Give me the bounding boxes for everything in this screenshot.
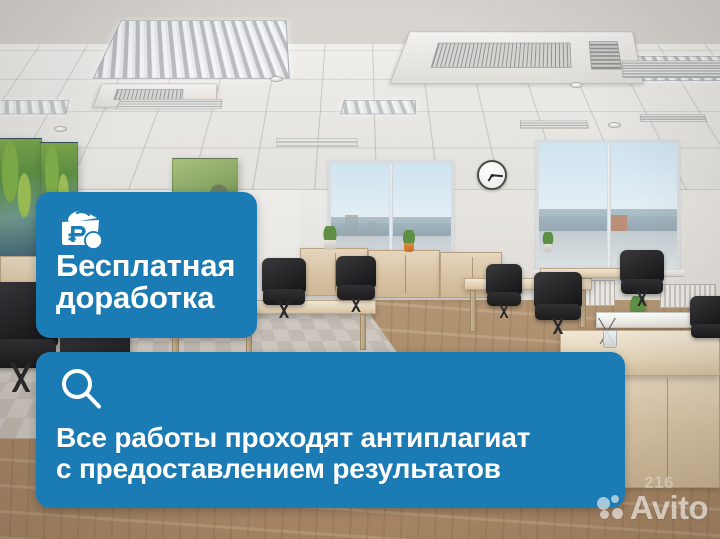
chair-back xyxy=(262,258,306,293)
desk-cup xyxy=(603,330,617,348)
card-antiplagiarism-text: Все работы проходят антиплагиат с предос… xyxy=(56,422,611,485)
chair-legs xyxy=(266,302,301,318)
plant-left xyxy=(320,226,340,250)
chair-legs xyxy=(539,318,577,334)
ceiling-light-panel-1 xyxy=(93,20,290,78)
ceiling-light-panel-4 xyxy=(0,100,69,114)
smoke-detector-4 xyxy=(608,122,621,128)
search-icon xyxy=(58,366,104,412)
chair-5 xyxy=(620,250,664,306)
chair-back xyxy=(336,256,376,288)
ceiling-vent-4 xyxy=(640,114,708,121)
plant-pot xyxy=(404,243,414,252)
cabinet-right-tall xyxy=(612,368,720,488)
cabinet-seam xyxy=(667,378,668,477)
window-mullion xyxy=(607,143,611,269)
card-free-revision-title: Бесплатная доработка xyxy=(56,250,245,314)
cabinet-center xyxy=(368,250,440,298)
ceiling-vent-1 xyxy=(622,61,720,78)
ceiling-light-panel-3 xyxy=(340,100,416,114)
ceiling-vent-3 xyxy=(520,121,589,129)
smoke-detector-2 xyxy=(570,82,583,88)
plant-center xyxy=(400,230,418,252)
chair-back xyxy=(690,296,720,327)
desk-leg xyxy=(470,290,476,332)
wallet-ruble-icon xyxy=(57,208,107,252)
cabinet-seam xyxy=(405,255,406,294)
chair-legs xyxy=(340,297,372,312)
chair-legs xyxy=(490,304,519,318)
chair-legs xyxy=(624,291,659,306)
chair-1 xyxy=(262,258,306,318)
chair-seat xyxy=(691,324,720,338)
chair-right-edge xyxy=(690,296,720,350)
chair-back xyxy=(534,272,582,308)
clock-center-pin xyxy=(491,174,494,177)
chair-2 xyxy=(336,256,376,312)
chair-back xyxy=(486,264,522,295)
plant-pot xyxy=(544,244,553,252)
clock-minute-hand xyxy=(492,174,503,177)
card-antiplagiarism: Все работы проходят антиплагиат с предос… xyxy=(36,352,625,508)
chair-4 xyxy=(534,272,582,334)
ceiling-vent-5 xyxy=(276,138,358,147)
ac-grille xyxy=(431,42,572,67)
chair-3 xyxy=(486,264,522,318)
plant-right xyxy=(540,232,556,252)
smoke-detector-1 xyxy=(270,76,283,82)
ceiling-vent-2 xyxy=(116,99,223,109)
chair-back xyxy=(620,250,664,282)
wall-clock xyxy=(477,160,507,190)
smoke-detector-3 xyxy=(54,126,67,132)
ac-vane xyxy=(589,41,623,69)
plant-pot xyxy=(324,240,335,250)
listing-image: Бесплатная доработка Все работы проходят… xyxy=(0,0,720,539)
desk-leg xyxy=(360,314,366,350)
card-free-revision: Бесплатная доработка xyxy=(36,192,257,338)
ac-cassette-main xyxy=(389,32,643,84)
